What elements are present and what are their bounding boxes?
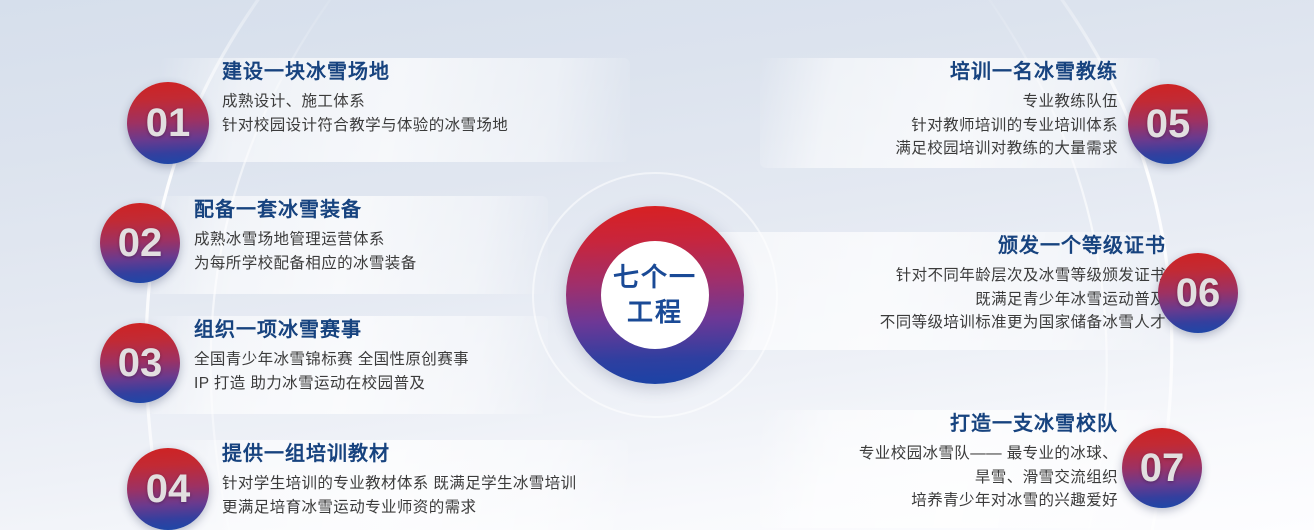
badge-06[interactable]: 06 <box>1158 253 1238 333</box>
item-04-line-2: 更满足培育冰雪运动专业师资的需求 <box>222 496 577 520</box>
item-07-line-3: 培养青少年对冰雪的兴趣爱好 <box>859 489 1118 513</box>
item-06-line-3: 不同等级培训标准更为国家储备冰雪人才 <box>880 311 1166 335</box>
center-title-line-2: 工程 <box>627 295 683 330</box>
item-03: 组织一项冰雪赛事 全国青少年冰雪锦标赛 全国性原创赛事 IP 打造 助力冰雪运动… <box>194 318 469 395</box>
center-emblem-inner: 七个一 工程 <box>601 241 709 349</box>
center-title-line-1: 七个一 <box>613 260 697 295</box>
item-06-title: 颁发一个等级证书 <box>880 234 1166 259</box>
item-05-line-1: 专业教练队伍 <box>895 90 1118 114</box>
item-06: 颁发一个等级证书 针对不同年龄层次及冰雪等级颁发证书 既满足青少年冰雪运动普及 … <box>880 234 1166 335</box>
item-02-line-2: 为每所学校配备相应的冰雪装备 <box>194 252 417 276</box>
item-03-line-2: IP 打造 助力冰雪运动在校园普及 <box>194 372 469 396</box>
badge-04[interactable]: 04 <box>127 448 209 530</box>
item-03-title: 组织一项冰雪赛事 <box>194 318 469 343</box>
item-01-line-2: 针对校园设计符合教学与体验的冰雪场地 <box>222 114 508 138</box>
badge-07[interactable]: 07 <box>1122 428 1202 508</box>
badge-number-07: 07 <box>1140 448 1185 488</box>
item-01-line-1: 成熟设计、施工体系 <box>222 90 508 114</box>
item-05-line-2: 针对教师培训的专业培训体系 <box>895 114 1118 138</box>
item-01: 建设一块冰雪场地 成熟设计、施工体系 针对校园设计符合教学与体验的冰雪场地 <box>222 60 508 137</box>
item-06-line-1: 针对不同年龄层次及冰雪等级颁发证书 <box>880 264 1166 288</box>
item-07-line-2: 旱雪、滑雪交流组织 <box>859 466 1118 490</box>
item-05-title: 培训一名冰雪教练 <box>895 60 1118 85</box>
item-05-line-3: 满足校园培训对教练的大量需求 <box>895 137 1118 161</box>
badge-03[interactable]: 03 <box>100 323 180 403</box>
item-04-line-1: 针对学生培训的专业教材体系 既满足学生冰雪培训 <box>222 472 577 496</box>
badge-01[interactable]: 01 <box>127 82 209 164</box>
badge-number-02: 02 <box>118 223 163 263</box>
item-06-line-2: 既满足青少年冰雪运动普及 <box>880 288 1166 312</box>
center-emblem: 七个一 工程 <box>566 206 744 384</box>
item-04-title: 提供一组培训教材 <box>222 442 577 467</box>
badge-number-03: 03 <box>118 343 163 383</box>
badge-number-06: 06 <box>1176 273 1221 313</box>
badge-02[interactable]: 02 <box>100 203 180 283</box>
item-03-line-1: 全国青少年冰雪锦标赛 全国性原创赛事 <box>194 348 469 372</box>
item-07-line-1: 专业校园冰雪队—— 最专业的冰球、 <box>859 442 1118 466</box>
badge-number-04: 04 <box>146 469 191 509</box>
item-02: 配备一套冰雪装备 成熟冰雪场地管理运营体系 为每所学校配备相应的冰雪装备 <box>194 198 417 275</box>
item-07: 打造一支冰雪校队 专业校园冰雪队—— 最专业的冰球、 旱雪、滑雪交流组织 培养青… <box>859 412 1118 513</box>
item-07-title: 打造一支冰雪校队 <box>859 412 1118 437</box>
item-04: 提供一组培训教材 针对学生培训的专业教材体系 既满足学生冰雪培训 更满足培育冰雪… <box>222 442 577 519</box>
seven-ones-project-infographic: 01 02 03 04 05 06 07 七个一 工程 建设一块冰雪场地 成熟设… <box>0 0 1314 530</box>
badge-number-05: 05 <box>1146 104 1191 144</box>
item-01-title: 建设一块冰雪场地 <box>222 60 508 85</box>
item-02-title: 配备一套冰雪装备 <box>194 198 417 223</box>
badge-number-01: 01 <box>146 103 191 143</box>
badge-05[interactable]: 05 <box>1128 84 1208 164</box>
item-02-line-1: 成熟冰雪场地管理运营体系 <box>194 228 417 252</box>
item-05: 培训一名冰雪教练 专业教练队伍 针对教师培训的专业培训体系 满足校园培训对教练的… <box>895 60 1118 161</box>
